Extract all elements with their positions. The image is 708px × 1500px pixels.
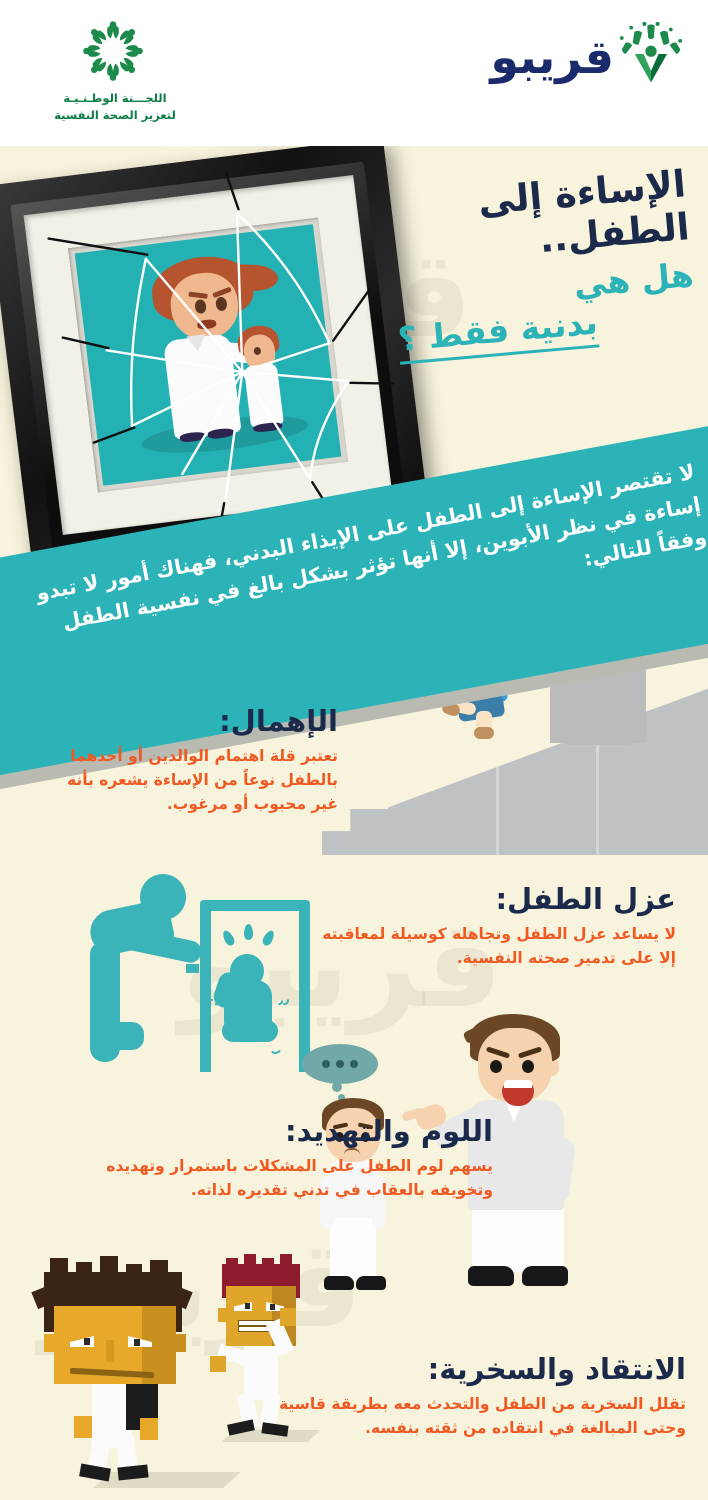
thought-bubble-icon bbox=[302, 1044, 378, 1084]
hero-title-block: الإساءة إلى الطفل.. هل هي بدنية فقط ؟ bbox=[385, 163, 699, 364]
national-committee-logo: اللجـــنة الوطـنـيـة لتعزيز الصحة النفسي… bbox=[35, 12, 195, 123]
section-blame-body: يسهم لوم الطفل على المشكلات باستمرار وته… bbox=[103, 1154, 493, 1202]
section-neglect-body: تعتبر قلة اهتمام الوالدين أو أحدهما بالط… bbox=[38, 744, 338, 816]
section-mockery-title: الانتقاد والسخرية: bbox=[256, 1354, 686, 1384]
isolation-pictogram-illustration bbox=[78, 872, 328, 1072]
section-isolation-title: عزل الطفل: bbox=[306, 884, 676, 914]
section-mockery: الانتقاد والسخرية: تقلل السخرية من الطفل… bbox=[256, 1354, 686, 1440]
qaribo-person-logo-icon bbox=[618, 22, 684, 92]
section-mockery-body: تقلل السخرية من الطفل والتحدث معه بطريقة… bbox=[256, 1392, 686, 1440]
section-neglect: الإهمال: تعتبر قلة اهتمام الوالدين أو أح… bbox=[38, 706, 338, 816]
national-committee-logo-line1: اللجـــنة الوطـنـيـة bbox=[35, 90, 195, 107]
poster-header: اللجـــنة الوطـنـيـة لتعزيز الصحة النفسي… bbox=[0, 0, 708, 146]
national-committee-logo-line2: لتعزيز الصحة النفسية bbox=[35, 107, 195, 124]
qaribo-logo: قريبو bbox=[490, 22, 684, 92]
section-blame-title: اللوم والتهديد: bbox=[103, 1116, 493, 1146]
door-knob-icon bbox=[186, 964, 199, 973]
section-blame: اللوم والتهديد: يسهم لوم الطفل على المشك… bbox=[103, 1116, 493, 1202]
section-isolation-body: لا يساعد عزل الطفل وتجاهله كوسيلة لمعاقب… bbox=[306, 922, 676, 970]
qaribo-wordmark: قريبو bbox=[490, 34, 614, 80]
infographic-poster: قريبو قريبو قريبو قريبو الإساءة إلى الطف… bbox=[0, 0, 708, 1500]
section-neglect-title: الإهمال: bbox=[38, 706, 338, 736]
photo-father-and-child bbox=[75, 224, 342, 486]
section-isolation: عزل الطفل: لا يساعد عزل الطفل وتجاهله كو… bbox=[306, 884, 676, 970]
national-committee-circular-figures-logo-icon bbox=[63, 12, 168, 90]
escalator-base-step bbox=[322, 809, 440, 855]
